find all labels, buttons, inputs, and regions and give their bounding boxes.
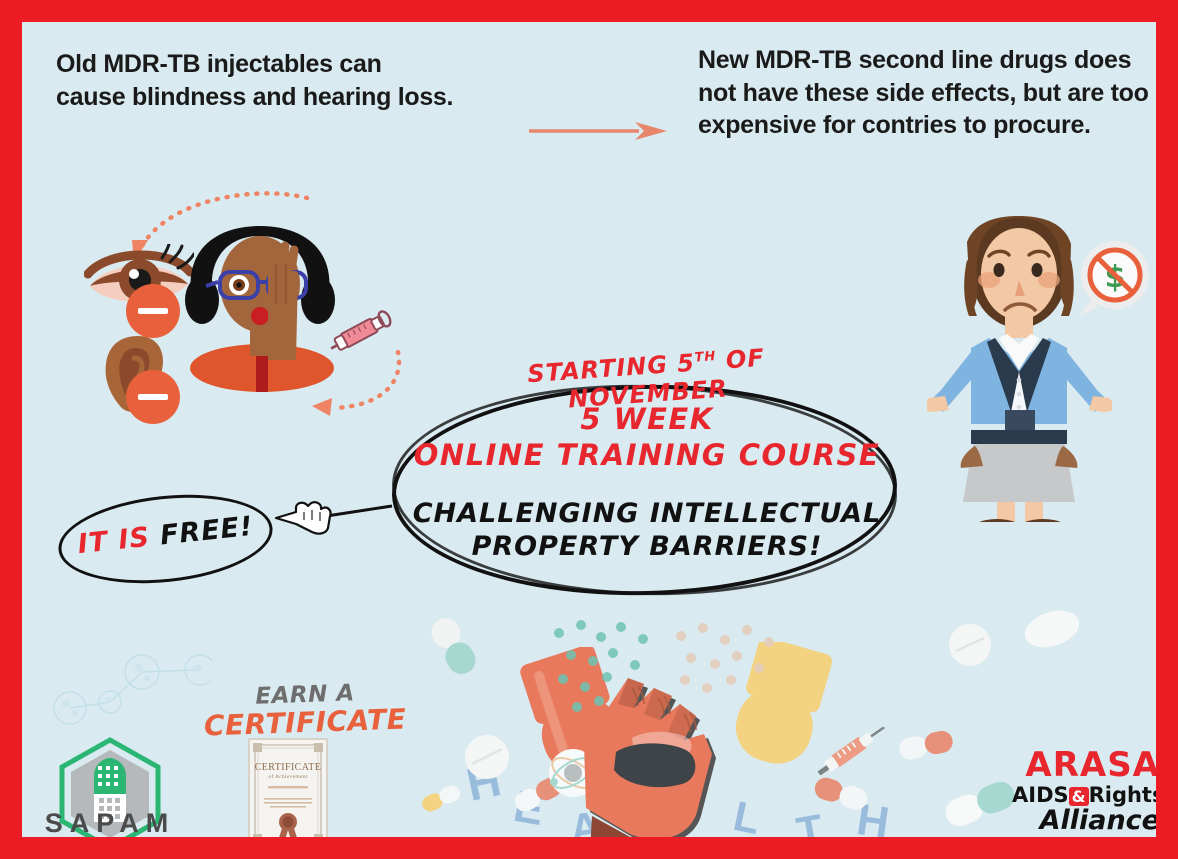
arasa-aids-rights: AIDS&Rights bbox=[1012, 784, 1156, 806]
syringe-small-icon bbox=[812, 727, 892, 775]
minus-bar bbox=[138, 394, 168, 399]
poster-canvas: Old MDR-TB injectables can cause blindne… bbox=[22, 22, 1156, 837]
no-money-sign-icon: $ bbox=[1068, 237, 1156, 322]
arasa-alliance: Alliance bbox=[1012, 807, 1156, 835]
pointing-hand-icon bbox=[274, 498, 394, 538]
capsule-icon bbox=[942, 782, 1018, 826]
arasa-subtitle: for Southern Africa bbox=[1012, 836, 1156, 837]
tablet-icon bbox=[947, 622, 993, 668]
certificate-label: CERTIFICATE bbox=[203, 703, 404, 743]
arasa-logo: ARASA AIDS&Rights Alliance for Southern … bbox=[1012, 748, 1156, 837]
molecule-watermark-icon bbox=[42, 630, 212, 740]
health-letter: L bbox=[729, 792, 764, 837]
capsule-icon bbox=[424, 612, 484, 682]
arasa-name: ARASA bbox=[1012, 748, 1156, 782]
callout-text-group: 5 WEEK ONLINE TRAINING COURSE CHALLENGIN… bbox=[402, 402, 892, 562]
starting-sup: TH bbox=[694, 349, 717, 365]
tablet-icon bbox=[462, 732, 512, 782]
minus-bar bbox=[138, 308, 168, 313]
capsule-icon bbox=[897, 728, 957, 762]
capsule-icon bbox=[812, 777, 872, 811]
arasa-aids: AIDS bbox=[1012, 783, 1069, 807]
capsule-small-icon bbox=[420, 784, 464, 812]
certificate-icon: CERTIFICATE of Achievement bbox=[248, 738, 328, 837]
sapam-wordmark: SAPAM bbox=[30, 808, 190, 837]
callout-line-2: ONLINE TRAINING COURSE bbox=[402, 438, 892, 472]
callout-line-3: CHALLENGING INTELLECTUAL bbox=[402, 498, 892, 529]
tablet-icon bbox=[1022, 607, 1082, 652]
headline-right: New MDR-TB second line drugs does not ha… bbox=[698, 44, 1156, 142]
arasa-ampersand: & bbox=[1069, 787, 1089, 806]
svg-text:of Achievement: of Achievement bbox=[268, 773, 307, 780]
raised-fist-icon bbox=[572, 652, 722, 837]
svg-text:CERTIFICATE: CERTIFICATE bbox=[255, 762, 322, 773]
callout-line-1: 5 WEEK bbox=[402, 402, 892, 436]
callout-line-4: PROPERTY BARRIERS! bbox=[402, 531, 892, 562]
transition-arrow-icon bbox=[527, 120, 667, 142]
arasa-rights: Rights bbox=[1089, 783, 1156, 807]
headline-left: Old MDR-TB injectables can cause blindne… bbox=[56, 48, 456, 113]
